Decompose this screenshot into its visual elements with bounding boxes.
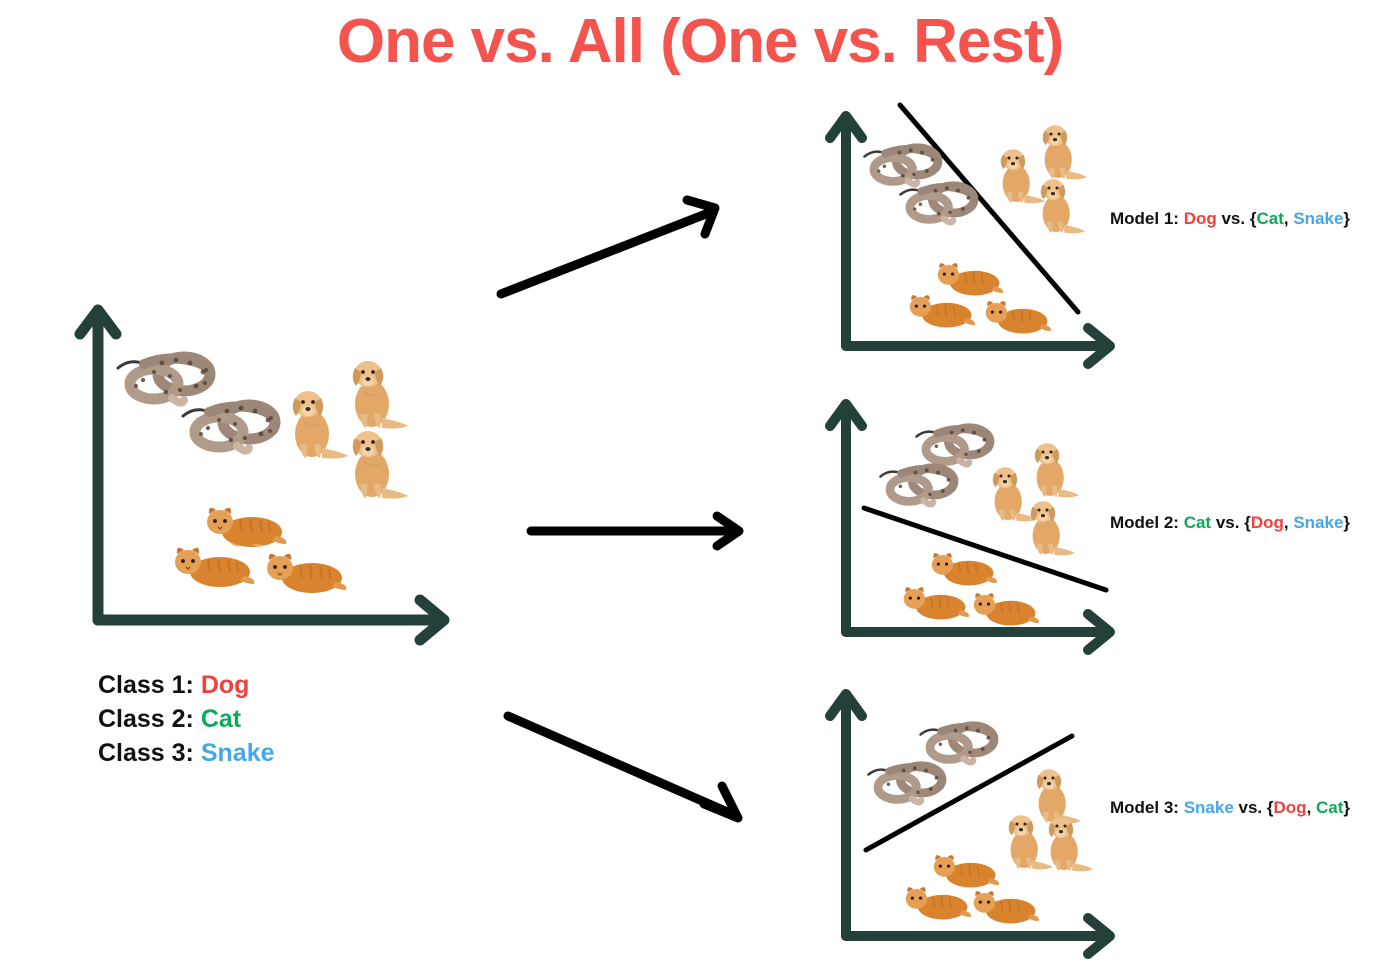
dog-icon [1022, 494, 1080, 558]
legend-value-dog: Dog [201, 671, 250, 699]
legend-label-3: Class 3: [98, 739, 194, 767]
page-title: One vs. All (One vs. Rest) [0, 6, 1400, 77]
model-2-rest-close: } [1343, 513, 1350, 532]
diagram-canvas: One vs. All (One vs. Rest) [0, 0, 1400, 980]
legend-label-1: Class 1: [98, 671, 194, 699]
arrow-to-model-1 [495, 190, 735, 310]
snake-icon [862, 760, 950, 810]
cat-icon [168, 542, 258, 592]
model-3-rest-2: Cat [1316, 798, 1343, 817]
model-1-prefix: Model 1: [1110, 209, 1179, 228]
model-3-vs: vs. [1239, 798, 1263, 817]
class-legend: Class 1: Dog Class 2: Cat Class 3: Snake [98, 668, 275, 770]
model-1-positive: Dog [1184, 209, 1217, 228]
model-2-rest-open: { [1244, 513, 1251, 532]
dog-icon [1040, 810, 1098, 874]
model-3-positive: Snake [1184, 798, 1234, 817]
model-2-points [822, 390, 1132, 645]
model-2-label: Model 2: Cat vs. {Dog, Snake} [1110, 513, 1350, 533]
model-3-prefix: Model 3: [1110, 798, 1179, 817]
model-2-positive: Cat [1184, 513, 1211, 532]
cat-icon [900, 882, 974, 924]
cat-icon [904, 290, 978, 332]
model-2-rest-sep: , [1284, 513, 1293, 532]
snake-icon [894, 180, 982, 230]
dog-icon [1026, 436, 1084, 500]
legend-value-snake: Snake [201, 739, 275, 767]
cat-icon [980, 296, 1054, 338]
model-2-vs: vs. [1216, 513, 1240, 532]
arrow-to-model-2 [525, 512, 750, 552]
legend-value-cat: Cat [201, 705, 241, 733]
dog-icon [342, 352, 414, 432]
legend-label-2: Class 2: [98, 705, 194, 733]
model-1-rest-close: } [1343, 209, 1350, 228]
cat-icon [898, 582, 972, 624]
model-1-rest-sep: , [1284, 209, 1293, 228]
model-3-points [822, 678, 1132, 953]
arrow-to-model-3 [500, 708, 750, 833]
dog-icon [1032, 172, 1090, 236]
snake-icon [175, 398, 285, 460]
legend-row-1: Class 1: Dog [98, 668, 275, 702]
model-1-rest-1: Cat [1256, 209, 1283, 228]
cat-icon [260, 548, 350, 598]
model-2-prefix: Model 2: [1110, 513, 1179, 532]
snake-icon [874, 462, 962, 512]
model-3-rest-sep: , [1307, 798, 1316, 817]
model-3-label: Model 3: Snake vs. {Dog, Cat} [1110, 798, 1350, 818]
model-2-rest-1: Dog [1251, 513, 1284, 532]
model-1-rest-2: Snake [1293, 209, 1343, 228]
legend-row-3: Class 3: Snake [98, 736, 275, 770]
legend-row-2: Class 2: Cat [98, 702, 275, 736]
model-1-label: Model 1: Dog vs. {Cat, Snake} [1110, 209, 1350, 229]
model-3-rest-1: Dog [1274, 798, 1307, 817]
model-1-vs: vs. [1221, 209, 1245, 228]
cat-icon [968, 886, 1042, 928]
source-plot-points [70, 290, 470, 630]
model-3-rest-close: } [1343, 798, 1350, 817]
model-3-rest-open: { [1267, 798, 1274, 817]
model-2-rest-2: Snake [1293, 513, 1343, 532]
model-1-points [822, 100, 1132, 360]
dog-icon [342, 422, 414, 502]
cat-icon [968, 588, 1042, 630]
